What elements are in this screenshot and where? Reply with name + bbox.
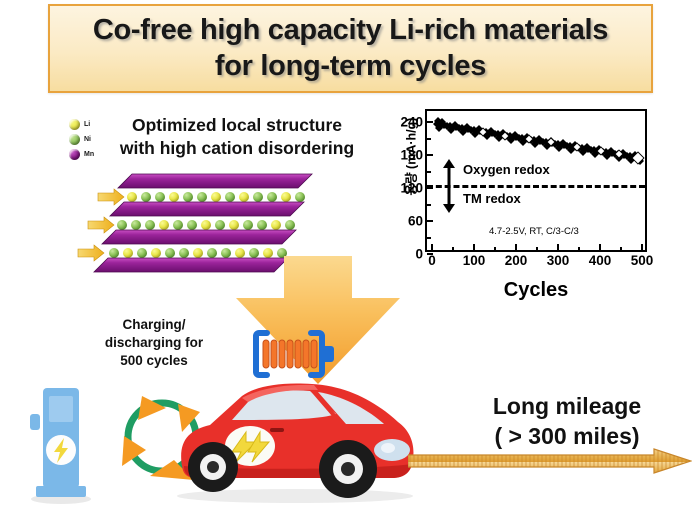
red-car-icon (170, 370, 420, 505)
x-tick-label-200: 200 (505, 253, 528, 268)
structure-caption-line-1: Optimized local structure (112, 114, 362, 137)
title-banner: Co-free high capacity Li-rich materials … (48, 4, 653, 93)
li-insertion-arrow-3 (78, 245, 104, 261)
x-tick-label-0: 0 (428, 253, 436, 268)
legend-label-ni: Ni (84, 136, 91, 143)
graphical-abstract: Co-free high capacity Li-rich materials … (0, 0, 700, 517)
long-arrow-right-icon (408, 448, 692, 476)
x-tick-label-300: 300 (547, 253, 570, 268)
tm-slab-2 (110, 202, 304, 216)
tm-redox-label: TM redox (463, 191, 521, 206)
li-insertion-arrow-2 (88, 217, 114, 233)
ion-row-1 (127, 192, 305, 202)
mileage-range-arrow (408, 448, 692, 476)
atom-legend: Li Ni Mn (69, 119, 94, 160)
chart-x-axis-label: Cycles (425, 279, 647, 302)
x-tick-label-500: 500 (631, 253, 654, 268)
x-tick-label-100: 100 (463, 253, 486, 268)
mileage-caption: Long mileage ( > 300 miles) (448, 392, 686, 452)
oxygen-redox-arrow-icon (443, 159, 455, 185)
charging-caption-line-1: Charging/ (92, 316, 216, 334)
tm-slab-1 (118, 174, 312, 188)
ni-sphere-icon (69, 134, 80, 145)
redox-divider-line (427, 185, 645, 188)
charging-caption-line-2: discharging for (92, 334, 216, 352)
y-tick-label-60: 60 (408, 214, 423, 229)
title-line-1: Co-free high capacity Li-rich materials (93, 13, 608, 48)
electric-vehicle (170, 370, 420, 505)
ev-charging-station (28, 380, 94, 505)
test-conditions-label: 4.7-2.5V, RT, C/3-C/3 (489, 226, 579, 237)
mn-sphere-icon (69, 149, 80, 160)
tm-slab-3 (102, 230, 296, 244)
chart-plot-area: 0 60 120 180 240 0 100 200 300 400 500 (425, 109, 647, 252)
y-tick-label-120: 120 (400, 181, 423, 196)
legend-item-ni: Ni (69, 134, 94, 145)
oxygen-redox-label: Oxygen redox (463, 162, 550, 177)
y-tick-label-180: 180 (400, 148, 423, 163)
li-sphere-icon (69, 119, 80, 130)
legend-label-mn: Mn (84, 151, 94, 158)
tm-redox-arrow-icon (443, 187, 455, 213)
legend-item-li: Li (69, 119, 94, 130)
legend-item-mn: Mn (69, 149, 94, 160)
structure-caption-line-2: with high cation disordering (112, 137, 362, 160)
charging-caption-line-3: 500 cycles (92, 352, 216, 370)
legend-label-li: Li (84, 121, 90, 128)
x-tick-label-400: 400 (589, 253, 612, 268)
li-insertion-arrow-1 (98, 189, 124, 205)
charging-caption: Charging/ discharging for 500 cycles (92, 316, 216, 369)
y-tick-label-240: 240 (400, 115, 423, 130)
capacity-band-filled (433, 117, 644, 165)
cycling-performance-chart: 용량 (mA·h/g) 0 60 120 180 240 0 100 200 3… (389, 107, 651, 265)
mileage-caption-line-1: Long mileage (448, 392, 686, 422)
structure-caption: Optimized local structure with high cati… (112, 114, 362, 160)
charging-station-icon (28, 380, 94, 505)
title-line-2: for long-term cycles (215, 49, 486, 84)
y-tick-label-0: 0 (415, 247, 423, 262)
ion-row-2 (117, 220, 295, 230)
